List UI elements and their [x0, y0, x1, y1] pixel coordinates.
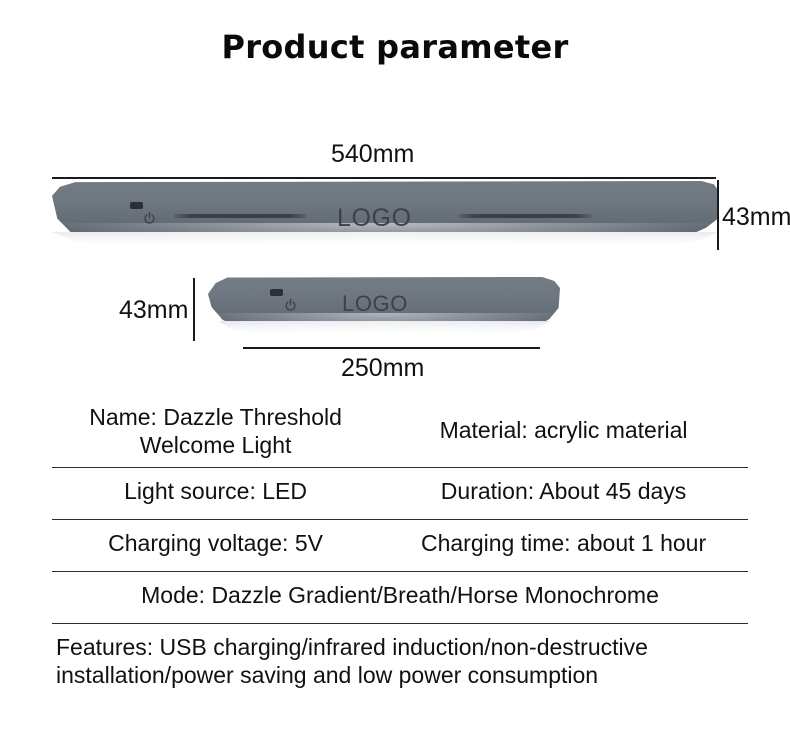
light-strip-left	[174, 214, 307, 218]
spec-table: Name: Dazzle Threshold Welcome Light Mat…	[52, 393, 748, 698]
light-strip-right	[458, 214, 592, 218]
spec-mode-value: Mode: Dazzle Gradient/Breath/Horse Monoc…	[52, 572, 748, 623]
table-row: Light source: LED Duration: About 45 day…	[52, 468, 748, 520]
small-bar-height-dimension-line	[193, 278, 195, 341]
sensor-indicator-icon	[130, 202, 143, 209]
spec-light-source-value: Light source: LED	[52, 468, 379, 519]
large-bar-base	[52, 232, 718, 246]
large-bar-width-label: 540mm	[331, 140, 414, 169]
sensor-indicator-icon	[270, 289, 283, 296]
table-row: Charging voltage: 5V Charging time: abou…	[52, 520, 748, 572]
spec-material-value: Material: acrylic material	[379, 393, 748, 467]
small-light-bar: LOGO	[208, 277, 560, 339]
small-bar-logo-label: LOGO	[342, 291, 408, 317]
table-row: Mode: Dazzle Gradient/Breath/Horse Monoc…	[52, 572, 748, 624]
small-bar-height-label: 43mm	[119, 296, 188, 325]
large-bar-logo-label: LOGO	[337, 204, 412, 233]
spec-duration-value: Duration: About 45 days	[379, 468, 748, 519]
large-light-bar: LOGO	[52, 181, 718, 253]
table-row: Features: USB charging/infrared inductio…	[52, 624, 748, 698]
small-bar-base	[218, 321, 550, 333]
spec-features-value: Features: USB charging/infrared inductio…	[52, 624, 748, 698]
product-dimension-diagram: 540mm LOGO 43mm 43mm	[0, 0, 790, 390]
power-icon	[142, 211, 157, 226]
spec-charging-time-value: Charging time: about 1 hour	[379, 520, 748, 571]
spec-charging-voltage-value: Charging voltage: 5V	[52, 520, 379, 571]
power-icon	[283, 298, 298, 313]
small-bar-width-dimension-line	[243, 347, 540, 349]
large-bar-height-dimension-line	[717, 180, 719, 250]
small-bar-width-label: 250mm	[341, 354, 424, 383]
large-bar-width-dimension-line	[52, 177, 716, 179]
large-bar-height-label: 43mm	[722, 203, 790, 232]
table-row: Name: Dazzle Threshold Welcome Light Mat…	[52, 393, 748, 468]
spec-name-value: Name: Dazzle Threshold Welcome Light	[52, 393, 379, 467]
